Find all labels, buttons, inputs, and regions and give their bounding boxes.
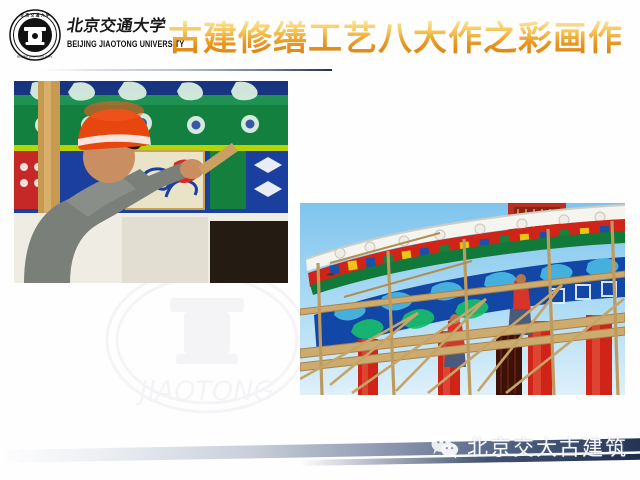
slide-footer: 北京交大古建筑 (0, 418, 640, 480)
wechat-icon (430, 434, 460, 460)
university-name-cn: 北京交通大学 (66, 17, 181, 35)
photo-temple-scaffolding (300, 203, 625, 395)
svg-text:北 京 交 通 大 学: 北 京 交 通 大 学 (20, 13, 49, 18)
university-name-en: BEIJING JIAOTONG UNIVERSITY (67, 38, 179, 49)
slide-header: 北 京 交 通 大 学 BEIJING JIAOTONG UNIV. 北京交通大… (0, 0, 640, 72)
bjtu-seal-logo: 北 京 交 通 大 学 BEIJING JIAOTONG UNIV. (9, 9, 61, 61)
presentation-slide: JIAOTONG 北 京 交 通 大 学 BEIJING JIAOTON (0, 0, 640, 480)
university-identity: 北京交通大学 BEIJING JIAOTONG UNIVERSITY (67, 17, 179, 47)
bjtu-seal-watermark: JIAOTONG (92, 258, 322, 433)
svg-text:JIAOTONG: JIAOTONG (135, 376, 275, 407)
page-title: 古建修缮工艺八大作之彩画作 (168, 20, 623, 58)
svg-text:BEIJING JIAOTONG UNIV.: BEIJING JIAOTONG UNIV. (17, 55, 53, 59)
header-divider (40, 69, 332, 71)
photo-painter-at-work (14, 81, 288, 283)
wechat-account-name: 北京交大古建筑 (467, 432, 628, 462)
wechat-account-watermark: 北京交大古建筑 (430, 432, 628, 462)
